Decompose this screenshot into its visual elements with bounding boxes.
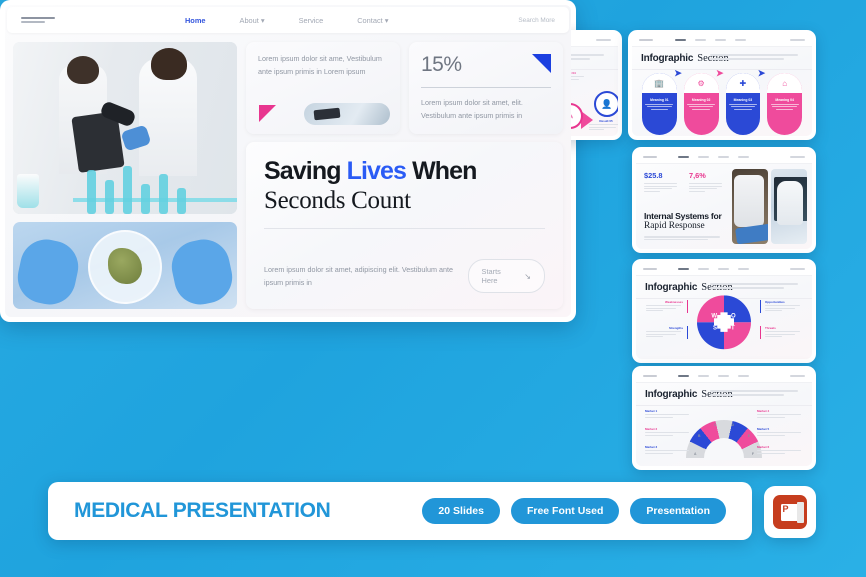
gauge-segment-label: F — [752, 452, 754, 456]
stat-card: 15% Lorem ipsum dolor sit amet, elit. Ve… — [409, 42, 563, 134]
doctor-folding-scrubs-photo — [732, 169, 768, 244]
mini-nav-item — [698, 156, 709, 158]
slide-title-bold: Infographic — [645, 389, 697, 400]
swot-label: Weaknesses — [646, 300, 688, 313]
logo-mark — [21, 17, 55, 22]
gauge-label: Market 6 — [757, 445, 803, 455]
slide-description — [644, 236, 724, 242]
gauge-segment-label: D — [732, 423, 734, 427]
mini-nav-item — [695, 39, 706, 41]
mini-nav-item — [738, 156, 749, 158]
slide-title-bold: Infographic — [641, 53, 693, 64]
starts-here-label: Starts Here — [482, 267, 511, 285]
swot-diagram: W O S T — [697, 295, 751, 349]
mini-nav-item — [735, 39, 746, 41]
info-card: Lorem ipsum dolor sit ame, Vestibulum an… — [246, 42, 400, 134]
hero-navbar: Home About ▾ Service Contact ▾ Search Mo… — [7, 7, 569, 33]
home-icon: ⌂ — [782, 79, 787, 88]
stat-item: $25.8 — [644, 171, 679, 193]
timeline-node: 👤 — [594, 91, 618, 117]
pill-step: ➤ ✚ Meaning 03 — [726, 73, 761, 135]
pill-step: ⌂ Meaning 04 — [767, 73, 802, 135]
gauge-segment-label: C — [714, 423, 716, 427]
slide-mini-navbar — [636, 370, 812, 383]
headline-line-1: Saving Lives When — [264, 158, 545, 185]
mini-nav-item — [678, 375, 689, 377]
arrow-pill-group: ➤ 🏢 Meaning 01 ➤ ⚙ Meaning 02 ➤ ✚ — [642, 73, 802, 135]
doctor-viewing-xray-photo — [771, 169, 807, 244]
stat-value: $25.8 — [644, 171, 679, 180]
powerpoint-file-badge[interactable] — [764, 486, 816, 538]
gear-icon: ⚙ — [698, 79, 705, 88]
gauge-label: Market 2 — [645, 427, 691, 437]
mini-search — [790, 156, 805, 158]
mini-search — [790, 39, 805, 41]
gauge-segment-label: E — [748, 434, 750, 438]
arrow-right-icon: ➤ — [716, 68, 724, 79]
mini-nav-item — [698, 268, 709, 270]
mini-search — [790, 268, 805, 270]
mini-nav-item — [675, 39, 686, 41]
nav-item-contact[interactable]: Contact ▾ — [357, 16, 388, 25]
slide-title: Internal Systems for Rapid Response — [644, 211, 724, 231]
gauge-segment-label: B — [698, 434, 700, 438]
hero-paragraph: Lorem ipsum dolor sit amet, adipiscing e… — [264, 263, 468, 290]
swot-label: Opportunities — [760, 300, 802, 313]
info-card-body: Lorem ipsum dolor sit ame, Vestibulum an… — [258, 53, 388, 78]
arrow-down-right-icon: ↘ — [524, 272, 531, 281]
gauge-segment-label: A — [694, 452, 696, 456]
arrow-right-icon: ➤ — [674, 68, 682, 79]
lab-scientists-microscope-photo — [13, 42, 237, 214]
mini-nav-item — [718, 375, 729, 377]
medical-cross-icon: ✚ — [740, 79, 747, 88]
stat-group: $25.8 7,6% — [644, 171, 724, 193]
medical-device-photo — [304, 103, 390, 125]
footer-bar: MEDICAL PRESENTATION 20 Slides Free Font… — [48, 482, 752, 540]
nav-item-home[interactable]: Home — [185, 16, 206, 25]
hero-nav-menu: Home About ▾ Service Contact ▾ — [185, 16, 388, 25]
mini-search — [596, 39, 611, 41]
semicircle-gauge-chart: A B C D E F — [686, 420, 762, 460]
pink-triangle-decoration — [259, 105, 276, 122]
mini-nav-item — [738, 375, 749, 377]
headline-highlight: Lives — [347, 157, 406, 185]
blue-triangle-decoration — [532, 54, 551, 73]
badge-presentation[interactable]: Presentation — [630, 498, 726, 524]
stat-item: 7,6% — [689, 171, 724, 193]
pill-step: ➤ ⚙ Meaning 02 — [684, 73, 719, 135]
badge-slide-count[interactable]: 20 Slides — [422, 498, 500, 524]
chevron-down-icon: ▾ — [385, 16, 389, 25]
nav-item-service[interactable]: Service — [299, 16, 324, 25]
mini-nav-item — [715, 39, 726, 41]
gauge-label: Market 4 — [757, 409, 803, 419]
starts-here-button[interactable]: Starts Here ↘ — [468, 259, 545, 293]
nav-item-about[interactable]: About ▾ — [240, 16, 265, 25]
hero-slide-preview[interactable]: Home About ▾ Service Contact ▾ Search Mo… — [0, 0, 576, 322]
page-title: MEDICAL PRESENTATION — [74, 499, 331, 523]
stat-card-body: Lorem ipsum dolor sit amet, elit. Vestib… — [421, 97, 551, 122]
slide-title-bold: Internal Systems for — [644, 211, 724, 221]
swot-label: Strengths — [646, 326, 688, 339]
gauge-label: Market 5 — [757, 427, 803, 437]
search-more-link[interactable]: Search More — [518, 17, 555, 24]
logo-mark — [639, 39, 653, 41]
hero-headline-card: Saving Lives When Seconds Count Lorem ip… — [246, 142, 563, 309]
badge-group: 20 Slides Free Font Used Presentation — [422, 498, 726, 524]
mini-nav-item — [678, 156, 689, 158]
slide-title-bold: Infographic — [645, 282, 697, 293]
slide-thumbnail-4[interactable]: Infographic Section ➤ 🏢 Meaning 01 ➤ — [628, 30, 816, 140]
mini-nav-item — [738, 268, 749, 270]
person-icon: 👤 — [601, 99, 612, 110]
powerpoint-icon — [773, 495, 807, 529]
logo-mark — [643, 156, 657, 158]
slide-title-serif: Rapid Response — [644, 221, 724, 231]
swot-label: Threats — [760, 326, 802, 339]
building-icon: 🏢 — [654, 79, 664, 88]
mini-nav-item — [718, 268, 729, 270]
slide-subtext — [710, 54, 803, 62]
logo-mark — [643, 268, 657, 270]
mini-nav-item — [718, 156, 729, 158]
arrow-right-icon: ➤ — [758, 68, 766, 79]
presentation-preview-canvas: Infographic Section Planning Marketing — [0, 0, 866, 577]
mini-nav-item — [698, 375, 709, 377]
slide-mini-navbar — [636, 151, 812, 164]
slide-mini-navbar — [632, 34, 812, 47]
slide-mini-navbar — [636, 263, 812, 276]
slide-thumbnail-6[interactable]: Infographic Section W O S T Weaknesses — [632, 259, 816, 363]
gloved-hands-petri-dish-photo — [13, 222, 237, 309]
chevron-down-icon: ▾ — [261, 16, 265, 25]
badge-free-font[interactable]: Free Font Used — [511, 498, 619, 524]
mini-nav-item — [678, 268, 689, 270]
slide-thumbnail-5[interactable]: $25.8 7,6% Internal Systems for Rapid Re… — [632, 147, 816, 253]
slide-subtext — [710, 390, 803, 398]
pill-step: ➤ 🏢 Meaning 01 — [642, 73, 677, 135]
slide-subtext — [710, 283, 803, 291]
gauge-label: Market 3 — [645, 445, 691, 455]
logo-mark — [643, 375, 657, 377]
mini-search — [790, 375, 805, 377]
headline-line-2: Seconds Count — [264, 186, 545, 215]
gauge-label: Market 1 — [645, 409, 691, 419]
stat-value: 7,6% — [689, 171, 724, 180]
timeline-label: Result 05 — [589, 119, 618, 131]
slide-thumbnail-7[interactable]: Infographic Section A B C D E F Mar — [632, 366, 816, 470]
